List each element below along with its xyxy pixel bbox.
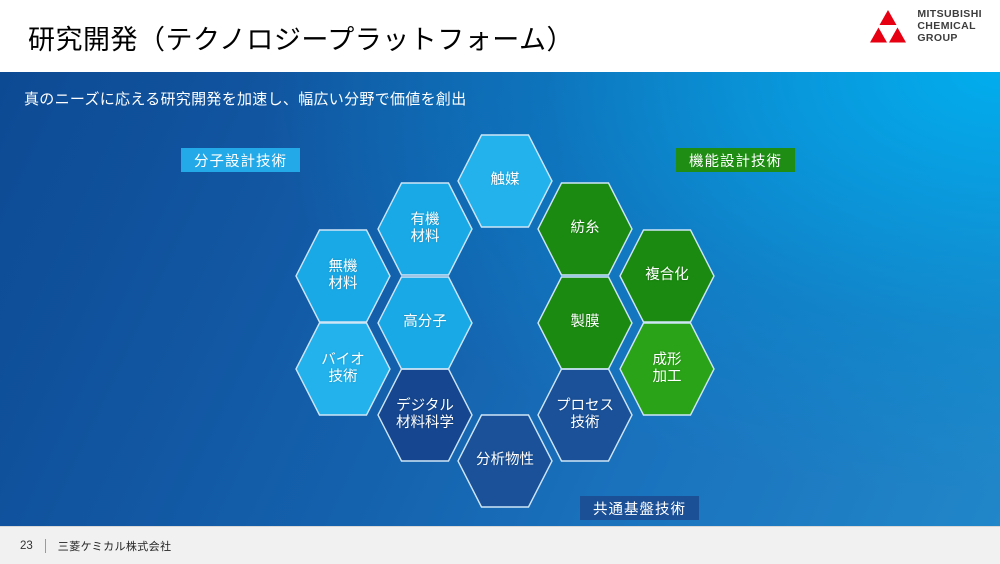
hex-bio-technology[interactable]: バイオ 技術 <box>296 323 390 415</box>
slide-root: 研究開発（テクノロジープラットフォーム） MITSUBISHI CHEMICAL… <box>0 0 1000 563</box>
slide-footer: 23 三菱ケミカル株式会社 <box>0 526 1000 564</box>
hexagon-grid: 触媒 有機 材料 無機 材料 高分子 バイオ 技術 紡糸 <box>0 72 1000 526</box>
hex-composite-label: 複合化 <box>645 267 689 284</box>
company-name: 三菱ケミカル株式会社 <box>58 538 172 554</box>
hex-catalyst-label: 触媒 <box>491 172 520 189</box>
hex-composite[interactable]: 複合化 <box>620 230 714 322</box>
hex-organic-materials-label: 有機 材料 <box>411 212 440 246</box>
hex-polymer-label: 高分子 <box>403 314 447 331</box>
hex-organic-materials[interactable]: 有機 材料 <box>378 183 472 275</box>
hex-inorganic-materials-label: 無機 材料 <box>329 259 358 293</box>
footer-divider <box>45 539 46 553</box>
hex-analysis-properties[interactable]: 分析物性 <box>458 415 552 507</box>
hex-polymer[interactable]: 高分子 <box>378 277 472 369</box>
page-number: 23 <box>20 540 33 552</box>
hex-analysis-properties-label: 分析物性 <box>476 452 534 469</box>
logo-line-3: GROUP <box>917 33 982 45</box>
brand-logo-text: MITSUBISHI CHEMICAL GROUP <box>917 9 982 44</box>
mitsubishi-three-diamond-icon <box>867 8 909 46</box>
slide-body: 真のニーズに応える研究開発を加速し、幅広い分野で価値を創出 分子設計技術 機能設… <box>0 72 1000 526</box>
hex-bio-technology-label: バイオ 技術 <box>321 352 365 386</box>
hex-digital-materials-science-label: デジタル 材料科学 <box>396 398 454 432</box>
slide-header: 研究開発（テクノロジープラットフォーム） MITSUBISHI CHEMICAL… <box>0 0 1000 72</box>
hex-film-forming-label: 製膜 <box>571 314 600 331</box>
hex-inorganic-materials[interactable]: 無機 材料 <box>296 230 390 322</box>
hex-digital-materials-science[interactable]: デジタル 材料科学 <box>378 369 472 461</box>
hex-spinning[interactable]: 紡糸 <box>538 183 632 275</box>
hex-process-technology[interactable]: プロセス 技術 <box>538 369 632 461</box>
hex-molding-processing[interactable]: 成形 加工 <box>620 323 714 415</box>
hex-film-forming[interactable]: 製膜 <box>538 277 632 369</box>
hex-catalyst[interactable]: 触媒 <box>458 135 552 227</box>
page-title: 研究開発（テクノロジープラットフォーム） <box>28 18 574 57</box>
brand-logo: MITSUBISHI CHEMICAL GROUP <box>867 8 982 46</box>
hex-process-technology-label: プロセス 技術 <box>556 398 614 432</box>
hex-spinning-label: 紡糸 <box>571 220 600 237</box>
hex-molding-processing-label: 成形 加工 <box>653 352 682 386</box>
